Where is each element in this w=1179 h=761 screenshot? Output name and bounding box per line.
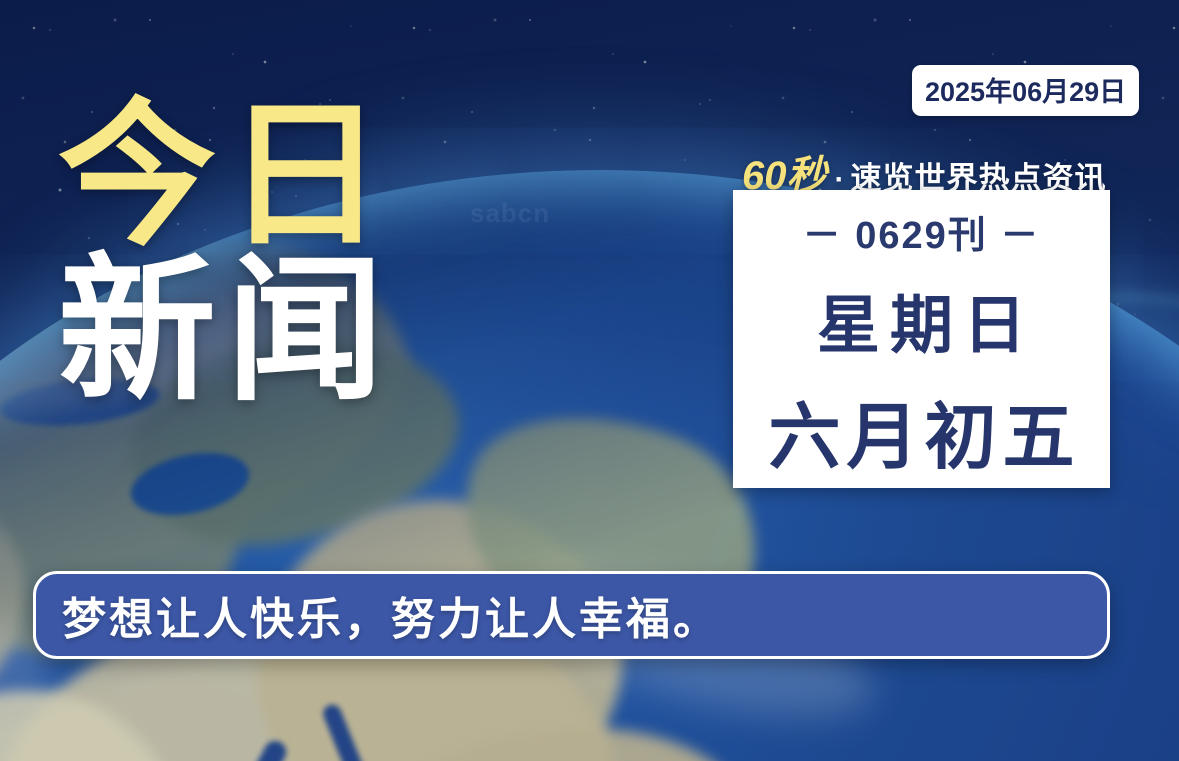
- quote-banner: 梦想让人快乐，努力让人幸福。: [33, 571, 1110, 659]
- news-poster: sabcn 今日 新闻 2025年06月29日 60秒 · 速览世界热点资讯 －…: [0, 0, 1179, 761]
- date-badge: 2025年06月29日: [912, 65, 1139, 116]
- info-card: － 0629刊 － 星期日 六月初五: [733, 190, 1110, 488]
- quote-text: 梦想让人快乐，努力让人幸福。: [62, 583, 720, 647]
- lunar-date-label: 六月初五: [762, 378, 1080, 483]
- weekday-label: 星期日: [807, 275, 1036, 366]
- title-line-today: 今日: [58, 96, 498, 257]
- issue-number: － 0629刊 －: [803, 204, 1041, 259]
- poster-title: 今日 新闻: [58, 96, 498, 412]
- title-line-news: 新闻: [58, 251, 498, 412]
